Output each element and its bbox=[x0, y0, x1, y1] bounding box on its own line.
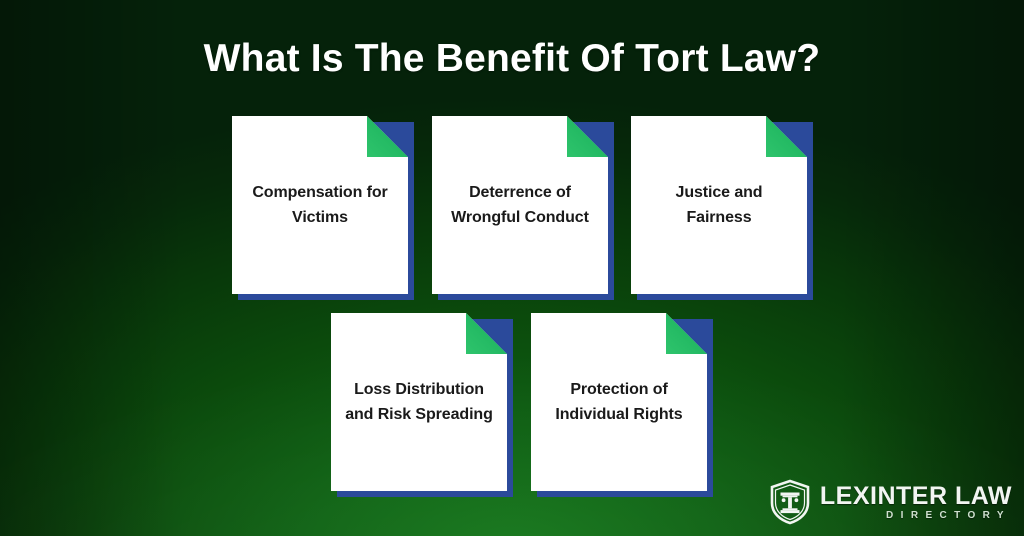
benefit-card-label: Justice and Fairness bbox=[641, 116, 797, 294]
brand-logo: LEXINTER LAW DIRECTORY bbox=[769, 476, 1012, 528]
benefit-card: Loss Distribution and Risk Spreading bbox=[331, 313, 507, 491]
page-title: What Is The Benefit Of Tort Law? bbox=[0, 36, 1024, 82]
brand-subtitle: DIRECTORY bbox=[820, 509, 1012, 522]
infographic-poster: What Is The Benefit Of Tort Law? Compens… bbox=[0, 0, 1024, 536]
benefit-card-label: Protection of Individual Rights bbox=[541, 313, 697, 491]
benefit-card: Protection of Individual Rights bbox=[531, 313, 707, 491]
benefit-card-label: Loss Distribution and Risk Spreading bbox=[341, 313, 497, 491]
brand-name: LEXINTER LAW bbox=[820, 483, 1012, 509]
benefit-card-label: Deterrence of Wrongful Conduct bbox=[442, 116, 598, 294]
benefit-card-label: Compensation for Victims bbox=[242, 116, 398, 294]
benefit-card: Justice and Fairness bbox=[631, 116, 807, 294]
benefit-card: Deterrence of Wrongful Conduct bbox=[432, 116, 608, 294]
shield-pillar-icon bbox=[769, 479, 811, 525]
brand-wordmark: LEXINTER LAW DIRECTORY bbox=[820, 483, 1012, 522]
benefit-card: Compensation for Victims bbox=[232, 116, 408, 294]
